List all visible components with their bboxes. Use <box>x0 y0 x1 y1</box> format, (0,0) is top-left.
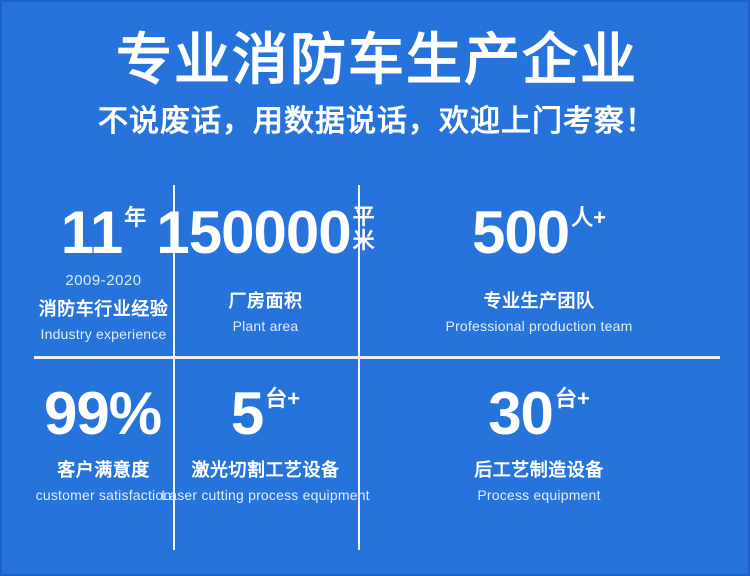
stat-value: 150000 <box>156 203 350 263</box>
stat-value: 11 <box>61 203 122 263</box>
stat-label-en: Process equipment <box>477 482 600 505</box>
stat-year-range: 2009-2020 <box>65 263 141 291</box>
stat-value-row: 150000 平 米 <box>156 203 374 263</box>
stat-value-row: 99% <box>44 384 163 444</box>
stat-label-cn: 激光切割工艺设备 <box>192 444 340 482</box>
stat-label-en: Industry experience <box>41 321 167 344</box>
stat-label-cn: 后工艺制造设备 <box>474 444 604 482</box>
stat-label-cn: 厂房面积 <box>229 263 303 313</box>
stat-unit: 年 <box>122 203 146 229</box>
stat-label-en: customer satisfaction <box>36 482 172 505</box>
stat-unit: 台+ <box>263 384 300 410</box>
stat-label-en: Laser cutting process equipment <box>161 482 370 505</box>
stat-label-en: Plant area <box>233 313 299 336</box>
stat-cell-team: 500 人+ 专业生产团队 Professional production te… <box>358 185 720 356</box>
page-title: 专业消防车生产企业 <box>2 2 750 92</box>
stat-label-cn: 专业生产团队 <box>484 263 595 313</box>
stat-value: 5 <box>231 384 263 444</box>
banner-header: 专业消防车生产企业 不说废话，用数据说话，欢迎上门考察！ <box>2 2 750 140</box>
stat-unit: 台+ <box>553 384 590 410</box>
stat-value: 99% <box>44 384 161 444</box>
stat-cell-plant-area: 150000 平 米 厂房面积 Plant area <box>173 185 358 356</box>
stat-label-en: Professional production team <box>446 313 633 336</box>
stat-value: 500 <box>472 203 569 263</box>
stat-value-row: 500 人+ <box>472 203 606 263</box>
promo-banner: 专业消防车生产企业 不说废话，用数据说话，欢迎上门考察！ 11 年 2009-2… <box>0 0 750 576</box>
stat-cell-laser-cutting: 5 台+ 激光切割工艺设备 Laser cutting process equi… <box>173 356 358 550</box>
stat-cell-process-equipment: 30 台+ 后工艺制造设备 Process equipment <box>358 356 720 550</box>
page-subtitle: 不说废话，用数据说话，欢迎上门考察！ <box>2 92 750 140</box>
stat-value-row: 30 台+ <box>488 384 590 444</box>
stat-value-row: 11 年 <box>61 203 146 263</box>
stat-unit <box>161 384 163 388</box>
stat-cell-experience: 11 年 2009-2020 消防车行业经验 Industry experien… <box>34 185 173 356</box>
stat-label-cn: 客户满意度 <box>57 444 150 482</box>
stat-label-cn: 消防车行业经验 <box>39 291 169 321</box>
stat-value-row: 5 台+ <box>231 384 300 444</box>
stat-value: 30 <box>488 384 553 444</box>
stat-cell-satisfaction: 99% 客户满意度 customer satisfaction <box>34 356 173 550</box>
stats-grid: 11 年 2009-2020 消防车行业经验 Industry experien… <box>34 185 720 550</box>
stat-unit: 人+ <box>569 203 606 229</box>
